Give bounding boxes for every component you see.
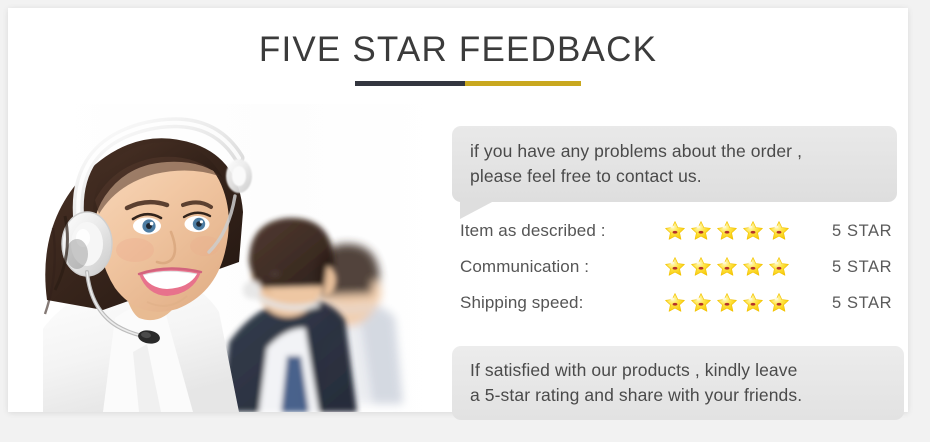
rating-request-bubble: If satisfied with our products , kindly … xyxy=(452,346,904,420)
feedback-banner: FIVE STAR FEEDBACK xyxy=(0,0,930,442)
title-underline-dark xyxy=(355,81,465,86)
page-title-wrap: FIVE STAR FEEDBACK xyxy=(8,30,908,70)
star-icon xyxy=(716,220,738,242)
rating-label: Shipping speed: xyxy=(452,293,664,313)
title-underline-gold xyxy=(465,81,581,86)
contact-message-bubble: if you have any problems about the order… xyxy=(452,126,897,202)
star-icon xyxy=(690,220,712,242)
title-underline xyxy=(355,81,581,86)
star-icon xyxy=(716,256,738,278)
star-icon xyxy=(716,292,738,314)
star-icon xyxy=(690,256,712,278)
star-rating xyxy=(664,220,804,242)
customer-service-photo xyxy=(43,104,443,412)
rating-label: Communication : xyxy=(452,257,664,277)
star-icon xyxy=(664,292,686,314)
rating-value: 5 STAR xyxy=(804,258,904,277)
star-rating xyxy=(664,292,804,314)
rating-row: Item as described : 5 STAR xyxy=(452,213,904,249)
star-icon xyxy=(664,220,686,242)
star-icon xyxy=(742,256,764,278)
rating-row: Shipping speed: 5 STAR xyxy=(452,285,904,321)
star-icon xyxy=(768,220,790,242)
star-icon xyxy=(690,292,712,314)
star-rating xyxy=(664,256,804,278)
star-icon xyxy=(768,292,790,314)
rating-list: Item as described : 5 STAR Communication… xyxy=(452,213,904,321)
star-icon xyxy=(768,256,790,278)
page-title: FIVE STAR FEEDBACK xyxy=(8,30,908,70)
rating-row: Communication : 5 STAR xyxy=(452,249,904,285)
rating-value: 5 STAR xyxy=(804,222,904,241)
content-card: FIVE STAR FEEDBACK xyxy=(8,8,908,412)
rating-request-line-2: a 5-star rating and share with your frie… xyxy=(470,383,890,408)
rating-value: 5 STAR xyxy=(804,294,904,313)
rating-label: Item as described : xyxy=(452,221,664,241)
star-icon xyxy=(664,256,686,278)
contact-message-line-1: if you have any problems about the order… xyxy=(470,139,881,164)
contact-message-line-2: please feel free to contact us. xyxy=(470,164,881,189)
rating-request-line-1: If satisfied with our products , kindly … xyxy=(470,358,890,383)
star-icon xyxy=(742,292,764,314)
star-icon xyxy=(742,220,764,242)
